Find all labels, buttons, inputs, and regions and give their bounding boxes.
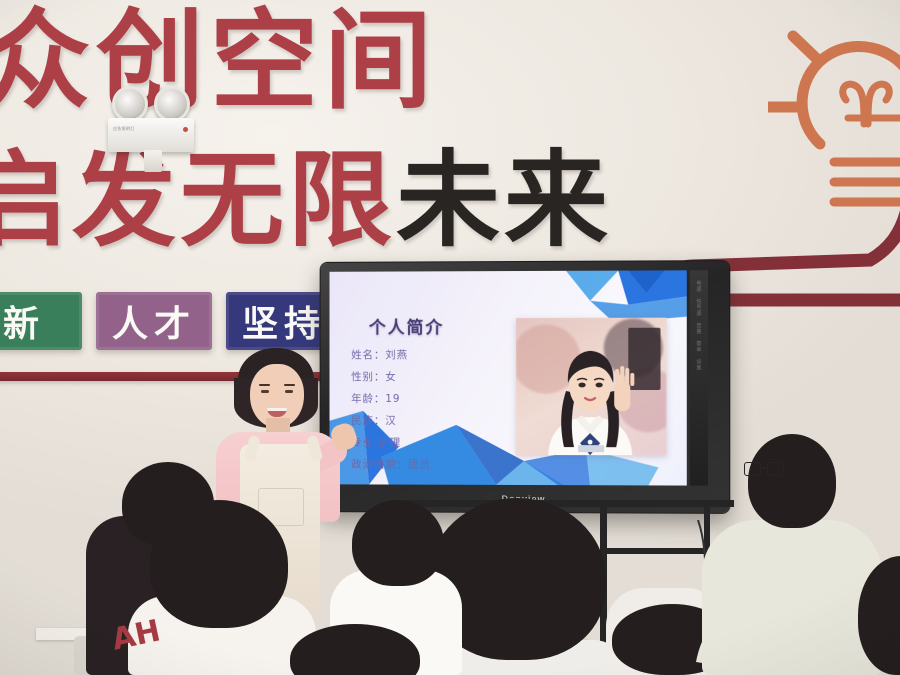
- slide-field-name: 姓名：刘燕: [351, 347, 431, 362]
- display-side-control-strip[interactable]: 电源 信号源 音量 菜单 设置: [690, 270, 708, 485]
- slide-field-gender: 性别：女: [351, 369, 431, 384]
- slide-title: 个人简介: [369, 313, 444, 338]
- wall-plaque-group: 新 人才 坚持: [0, 292, 342, 350]
- slide-field-major: 专业:护理: [351, 435, 431, 450]
- plaque-innovation-label: 新: [3, 295, 45, 347]
- plaque-talent: 人才: [96, 292, 212, 350]
- display-control-settings[interactable]: 设置: [695, 359, 702, 371]
- portrait-caption-bar: [578, 445, 604, 452]
- slide-field-list: 姓名：刘燕 性别：女 年龄：19 民族：汉 专业:护理 政治面貌：团员: [351, 347, 431, 472]
- wall-headline-line2-black: 未来: [396, 148, 612, 252]
- emergency-light-lamp-left: [112, 86, 148, 122]
- display-control-menu[interactable]: 菜单: [695, 341, 702, 353]
- slide-field-ethnicity: 民族：汉: [351, 413, 431, 428]
- display-control-power[interactable]: 电源: [695, 280, 702, 292]
- plaque-talent-label: 人才: [112, 295, 196, 347]
- emergency-light-plug: [144, 150, 162, 172]
- student-portrait-photo: [516, 318, 667, 456]
- interactive-flat-panel-display[interactable]: 个人简介 姓名：刘燕 性别：女 年龄：19 民族：汉 专业:护理 政治面貌：团员: [321, 261, 730, 513]
- student-right-glasses-head: [748, 434, 836, 528]
- display-control-source[interactable]: 信号源: [695, 298, 702, 316]
- student-right-glasses-eyewear: [744, 462, 784, 474]
- plaque-persistence-label: 坚持: [242, 295, 326, 347]
- wall-headline-line1: 众创空间: [0, 8, 438, 116]
- emergency-light-label: 应急照明灯: [113, 126, 135, 132]
- student-center-left-head: [352, 500, 444, 586]
- display-control-volume[interactable]: 音量: [695, 323, 702, 335]
- emergency-light-indicator: [183, 127, 188, 132]
- wall-headline-line2-red: 启发无限: [0, 148, 396, 252]
- emergency-light: 应急照明灯: [108, 86, 194, 172]
- emergency-light-lamp-right: [154, 86, 190, 122]
- presentation-slide: 个人简介 姓名：刘燕 性别：女 年龄：19 民族：汉 专业:护理 政治面貌：团员: [329, 270, 686, 485]
- plaque-innovation: 新: [0, 292, 82, 350]
- slide-field-age: 年龄：19: [351, 391, 431, 406]
- slide-field-political: 政治面貌：团员: [351, 457, 431, 472]
- wall-headline-line2: 启发无限 未来: [0, 148, 612, 252]
- portrait-subject: [542, 343, 638, 455]
- display-screen[interactable]: 个人简介 姓名：刘燕 性别：女 年龄：19 民族：汉 专业:护理 政治面貌：团员: [329, 270, 686, 485]
- classroom-photo-scene: 众创空间 启发无限 未来 新 人才 坚持 应急照明灯: [0, 0, 900, 675]
- student-front-left-head: [150, 500, 288, 628]
- emergency-light-body: 应急照明灯: [108, 118, 194, 152]
- student-right-arm: [692, 596, 752, 666]
